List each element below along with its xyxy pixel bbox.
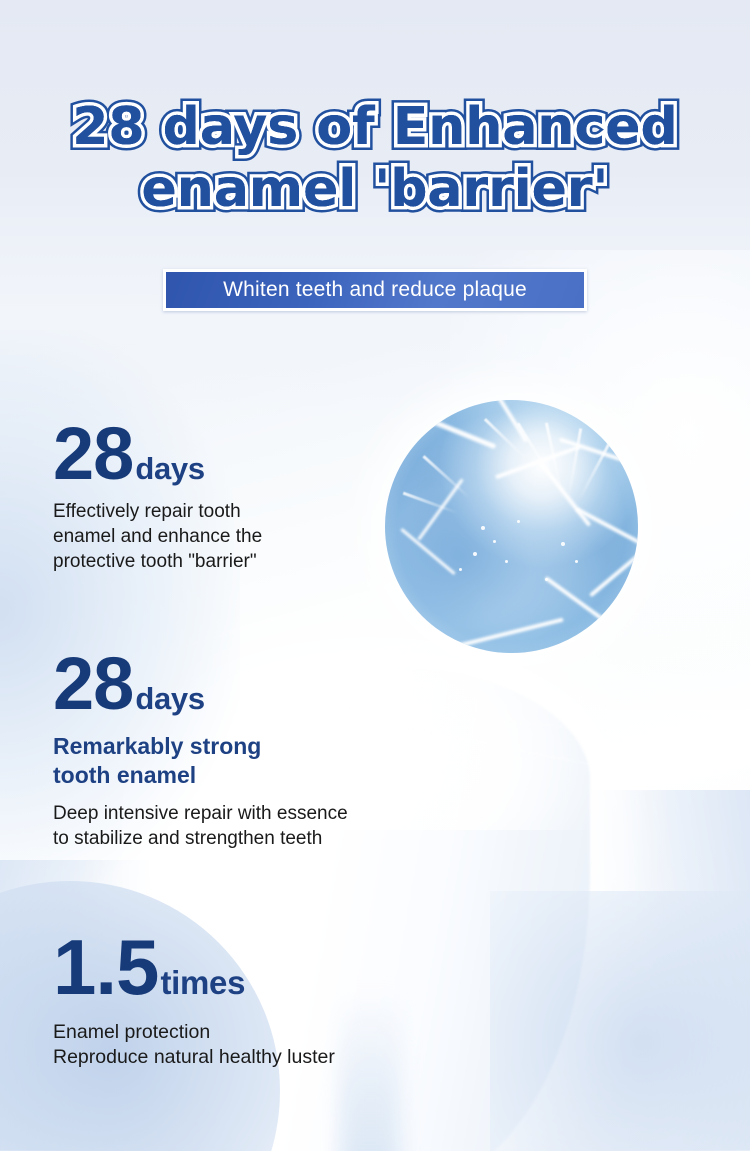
stat-number: 28 (53, 420, 133, 488)
headline-line-1: 28 days of Enhanced (0, 96, 750, 158)
page-title: 28 days of Enhanced enamel 'barrier' (0, 96, 750, 220)
stat-unit: days (135, 453, 204, 484)
stat-block-1: 28 days Effectively repair tooth enamel … (53, 420, 262, 574)
stat-description: Effectively repair tooth enamel and enha… (53, 499, 262, 574)
stat-description: Deep intensive repair with essence to st… (53, 801, 348, 851)
tooth-root-cleft (340, 990, 400, 1151)
crystal-enamel-sphere (385, 400, 638, 653)
promo-poster: 28 days of Enhanced enamel 'barrier' 28 … (0, 0, 750, 1151)
subtitle-banner-label: Whiten teeth and reduce plaque (223, 278, 527, 302)
stat-number: 28 (53, 650, 133, 718)
headline-line-2: enamel 'barrier' (0, 158, 750, 220)
stat-block-3: 1.5 times Enamel protection Reproduce na… (53, 932, 335, 1070)
stat-description-line: Reproduce natural healthy luster (53, 1045, 335, 1070)
stat-unit: times (160, 966, 245, 999)
stat-description-line: protective tooth "barrier" (53, 549, 262, 574)
stat-subheading: Remarkably strong tooth enamel (53, 732, 348, 790)
stat-description-line: enamel and enhance the (53, 524, 262, 549)
background-bottom-right-wash (490, 891, 750, 1151)
stat-headline: 28 days (53, 650, 348, 718)
stat-headline: 1.5 times (53, 932, 335, 1004)
stat-description-line: to stabilize and strengthen teeth (53, 826, 348, 851)
subtitle-banner: Whiten teeth and reduce plaque (163, 269, 587, 311)
stat-headline: 28 days (53, 420, 262, 488)
stat-description: Enamel protection Reproduce natural heal… (53, 1020, 335, 1070)
stat-description-line: Effectively repair tooth (53, 499, 262, 524)
stat-description-line: Enamel protection (53, 1020, 335, 1045)
stat-subheading-line: tooth enamel (53, 761, 348, 790)
stat-block-2: 28 days Remarkably strong tooth enamel D… (53, 650, 348, 851)
stat-subheading-line: Remarkably strong (53, 732, 348, 761)
stat-description-line: Deep intensive repair with essence (53, 801, 348, 826)
stat-number: 1.5 (53, 932, 158, 1004)
stat-unit: days (135, 683, 204, 714)
